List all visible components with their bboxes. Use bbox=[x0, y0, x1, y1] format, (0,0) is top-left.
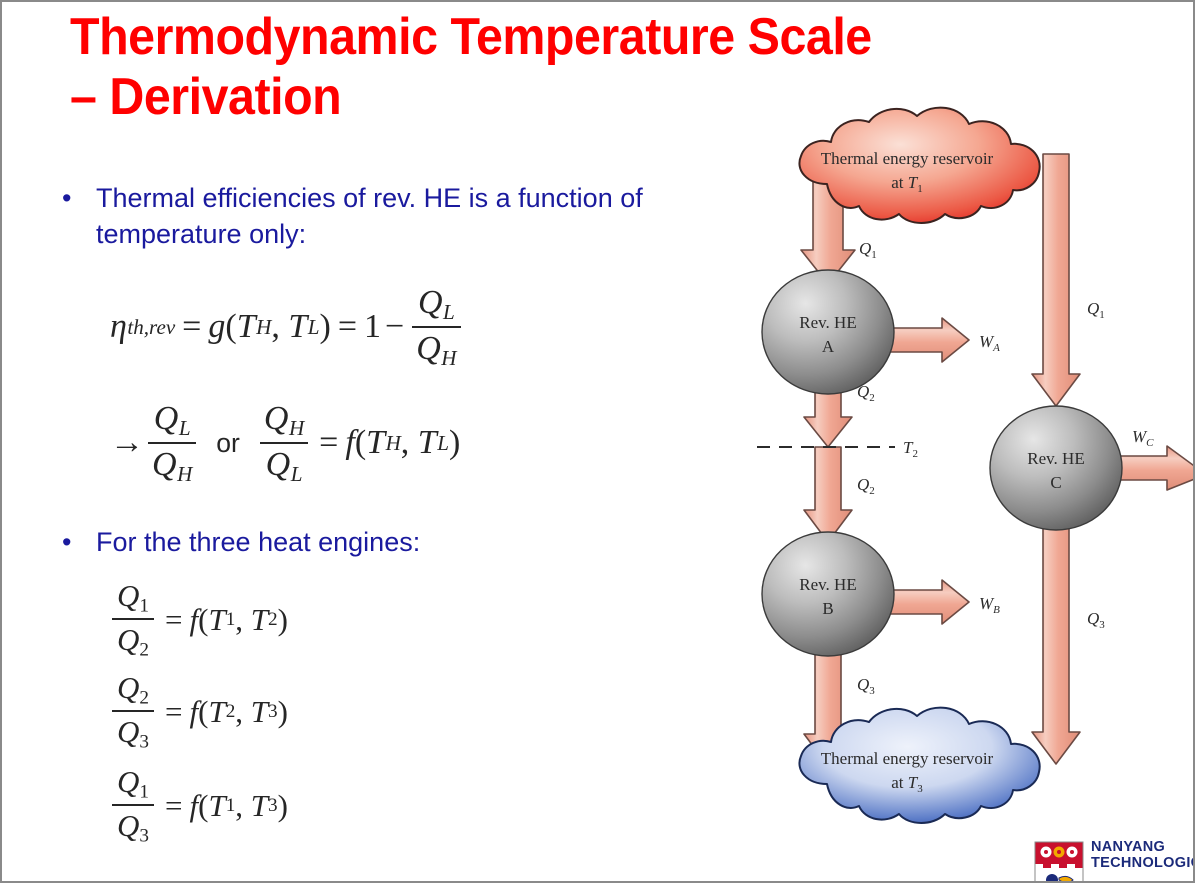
equals-sign: = bbox=[312, 424, 345, 462]
paren-close: ) bbox=[278, 602, 288, 638]
T1-subscript: 1 bbox=[226, 609, 236, 631]
equals-sign: = bbox=[158, 694, 189, 730]
fraction-numerator: QH bbox=[260, 400, 308, 442]
Q1-symbol: Q bbox=[117, 764, 139, 799]
T-H-symbol: T bbox=[366, 424, 385, 462]
label-WC: WC bbox=[1132, 427, 1154, 449]
Q-H-symbol: Q bbox=[264, 400, 289, 437]
ntu-logo: NANYANG TECHNOLOGIC bbox=[1033, 840, 1195, 883]
Q-L-subscript: L bbox=[290, 462, 302, 486]
paren-open: ( bbox=[355, 424, 366, 462]
f-function: f bbox=[189, 694, 198, 730]
Q1-subscript: 1 bbox=[139, 595, 149, 616]
Q-H-subscript: H bbox=[288, 416, 304, 440]
implies-arrow: → bbox=[110, 424, 144, 462]
f-function: f bbox=[189, 788, 198, 824]
Q2-subscript: 2 bbox=[139, 640, 149, 661]
engine-A-label-line2: A bbox=[822, 337, 835, 356]
Q3-subscript: 3 bbox=[139, 826, 149, 847]
engine-C-label-line1: Rev. HE bbox=[1027, 449, 1084, 468]
comma-1: , bbox=[271, 308, 280, 346]
label-Q2-upper: Q2 bbox=[857, 382, 875, 404]
equation-Q1-Q3: Q1 Q3 = f(T1, T3) bbox=[108, 764, 288, 848]
Q-L-symbol: Q bbox=[418, 284, 443, 321]
bullet-text: Thermal efficiencies of rev. HE is a fun… bbox=[96, 180, 682, 253]
fraction-Q2-Q3: Q2 Q3 bbox=[112, 670, 154, 754]
fraction-Q1-Q3: Q1 Q3 bbox=[112, 764, 154, 848]
hot-reservoir-label-line1: Thermal energy reservoir bbox=[821, 149, 994, 168]
comma: , bbox=[401, 424, 410, 462]
engine-C: Rev. HE C bbox=[990, 406, 1122, 530]
one-literal: 1 bbox=[364, 308, 381, 346]
T-H-subscript: H bbox=[256, 315, 272, 340]
paren-open: ( bbox=[225, 308, 236, 346]
label-Q1-left: Q1 bbox=[859, 239, 877, 261]
label-Q3-right: Q3 bbox=[1087, 609, 1105, 631]
Q-L-subscript: L bbox=[443, 300, 455, 324]
eta-subscript: th,rev bbox=[127, 315, 175, 340]
heat-arrow-Q1-to-C bbox=[1032, 154, 1080, 406]
T2-symbol: T bbox=[251, 602, 268, 638]
fraction-numerator: QL bbox=[414, 284, 459, 326]
equals-sign-2: = bbox=[331, 308, 364, 346]
Q-L-symbol: Q bbox=[154, 400, 179, 437]
heat-arrow-Q3-right bbox=[1032, 526, 1080, 764]
eta-symbol: η bbox=[110, 308, 127, 346]
bullet-item-2: • For the three heat engines: bbox=[62, 524, 682, 560]
minus-sign: − bbox=[381, 308, 408, 346]
fraction-denominator: QL bbox=[262, 444, 307, 487]
T3-subscript: 3 bbox=[268, 701, 278, 723]
equals-sign: = bbox=[158, 602, 189, 638]
Q1-symbol: Q bbox=[117, 578, 139, 613]
paren-open: ( bbox=[198, 788, 208, 824]
bullet-text: For the three heat engines: bbox=[96, 524, 682, 560]
comma: , bbox=[235, 788, 243, 824]
heat-arrow-Q2-lower bbox=[804, 447, 852, 542]
fraction-QL-QH-2: QL QH bbox=[148, 400, 196, 487]
f-function: f bbox=[189, 602, 198, 638]
label-WA: WA bbox=[979, 332, 1000, 354]
Q3-subscript: 3 bbox=[139, 732, 149, 753]
Q-H-symbol: Q bbox=[152, 446, 177, 483]
heat-engine-cascade-diagram: Thermal energy reservoir at T1 Thermal e… bbox=[747, 102, 1195, 847]
Q2-symbol: Q bbox=[117, 670, 139, 705]
bullet-marker: • bbox=[62, 524, 96, 560]
fraction-denominator: Q3 bbox=[113, 712, 153, 753]
Q-H-symbol: Q bbox=[416, 330, 441, 367]
cold-reservoir-label-line1: Thermal energy reservoir bbox=[821, 749, 994, 768]
engine-C-label-line2: C bbox=[1050, 473, 1061, 492]
equals-sign: = bbox=[158, 788, 189, 824]
T1-subscript: 1 bbox=[226, 795, 236, 817]
or-conjunction: or bbox=[200, 428, 256, 459]
paren-close: ) bbox=[320, 308, 331, 346]
slide: Thermodynamic Temperature Scale – Deriva… bbox=[0, 0, 1195, 883]
Q2-subscript: 2 bbox=[139, 687, 149, 708]
fraction-QH-QL: QH QL bbox=[260, 400, 308, 487]
Q1-subscript: 1 bbox=[139, 781, 149, 802]
paren-close: ) bbox=[278, 788, 288, 824]
cold-reservoir-at-prefix: at bbox=[891, 773, 908, 792]
fraction-QL-QH: QL QH bbox=[412, 284, 460, 371]
bullet-marker: • bbox=[62, 180, 96, 216]
paren-open: ( bbox=[198, 694, 208, 730]
fraction-numerator: Q2 bbox=[113, 670, 153, 710]
fraction-denominator: QH bbox=[412, 328, 460, 371]
comma: , bbox=[235, 602, 243, 638]
Q3-symbol: Q bbox=[117, 714, 139, 749]
hot-reservoir-T-subscript: 1 bbox=[917, 183, 923, 195]
T3-symbol: T bbox=[251, 788, 268, 824]
equals-sign-1: = bbox=[175, 308, 208, 346]
T-L-subscript: L bbox=[437, 431, 449, 456]
hot-reservoir-at-prefix: at bbox=[891, 173, 908, 192]
paren-close: ) bbox=[278, 694, 288, 730]
Q-L-symbol: Q bbox=[266, 446, 291, 483]
label-Q3-left: Q3 bbox=[857, 675, 875, 697]
paren-close: ) bbox=[449, 424, 460, 462]
engine-A: Rev. HE A bbox=[762, 270, 894, 394]
T-L-symbol: T bbox=[418, 424, 437, 462]
fraction-numerator: Q1 bbox=[113, 578, 153, 618]
equation-Q2-Q3: Q2 Q3 = f(T2, T3) bbox=[108, 670, 288, 754]
label-Q1-right: Q1 bbox=[1087, 299, 1105, 321]
engine-B-label-line1: Rev. HE bbox=[799, 575, 856, 594]
T1-symbol: T bbox=[208, 602, 225, 638]
equation-Q1-Q2: Q1 Q2 = f(T1, T2) bbox=[108, 578, 288, 662]
ntu-crest-icon bbox=[1033, 840, 1085, 883]
equation-eta-th-rev: ηth,rev = g(TH, TL) = 1 − QL QH bbox=[110, 284, 465, 371]
paren-open: ( bbox=[198, 602, 208, 638]
f-function: f bbox=[345, 424, 354, 462]
fraction-denominator: Q2 bbox=[113, 620, 153, 661]
T2-subscript: 2 bbox=[912, 448, 918, 460]
Q-L-subscript: L bbox=[178, 416, 190, 440]
bullet-item-1: • Thermal efficiencies of rev. HE is a f… bbox=[62, 180, 682, 253]
T2-subscript: 2 bbox=[268, 609, 278, 631]
T2-label: T2 bbox=[903, 438, 918, 460]
label-Q2-lower: Q2 bbox=[857, 475, 875, 497]
T1-symbol: T bbox=[208, 788, 225, 824]
fraction-numerator: QL bbox=[150, 400, 195, 442]
Q-H-subscript: H bbox=[441, 346, 457, 370]
engine-B-label-line2: B bbox=[822, 599, 833, 618]
T-H-subscript: H bbox=[385, 431, 401, 456]
comma: , bbox=[235, 694, 243, 730]
Q3-symbol: Q bbox=[117, 808, 139, 843]
T-L-subscript: L bbox=[307, 315, 319, 340]
cold-reservoir-T-subscript: 3 bbox=[917, 783, 923, 795]
equation-heat-ratio: → QL QH or QH QL = f(TH, TL) bbox=[110, 400, 460, 487]
engine-A-label-line1: Rev. HE bbox=[799, 313, 856, 332]
fraction-Q1-Q2: Q1 Q2 bbox=[112, 578, 154, 662]
fraction-denominator: Q3 bbox=[113, 806, 153, 847]
ntu-wordmark: NANYANG TECHNOLOGIC bbox=[1091, 840, 1195, 871]
Q-H-subscript: H bbox=[177, 462, 193, 486]
T2-subscript: 2 bbox=[226, 701, 236, 723]
T-H-symbol: T bbox=[237, 308, 256, 346]
T3-symbol: T bbox=[251, 694, 268, 730]
fraction-numerator: Q1 bbox=[113, 764, 153, 804]
T-L-symbol: T bbox=[288, 308, 307, 346]
T3-subscript: 3 bbox=[268, 795, 278, 817]
label-WB: WB bbox=[979, 594, 1000, 616]
g-function: g bbox=[208, 308, 225, 346]
engine-B: Rev. HE B bbox=[762, 532, 894, 656]
Q2-symbol: Q bbox=[117, 622, 139, 657]
T2-symbol: T bbox=[208, 694, 225, 730]
fraction-denominator: QH bbox=[148, 444, 196, 487]
